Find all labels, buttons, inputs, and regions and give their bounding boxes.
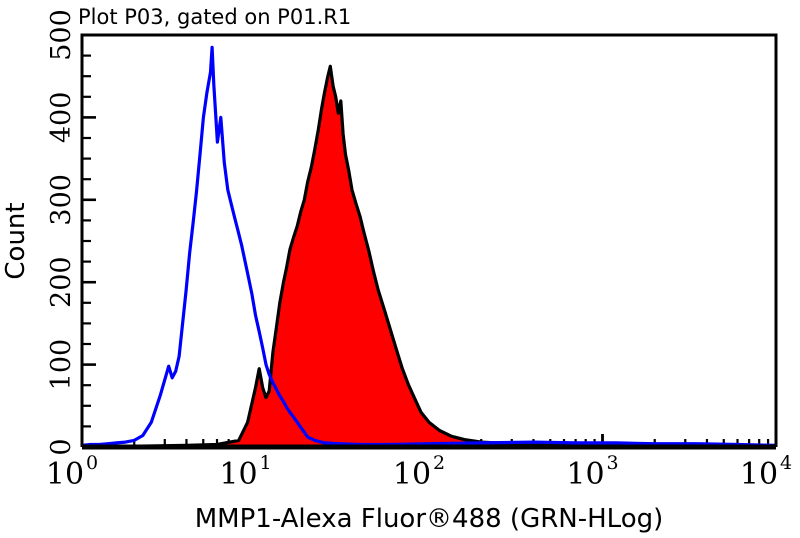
x-tick-exponent: 0	[86, 452, 98, 474]
x-axis-label: MMP1-Alexa Fluor®488 (GRN-HLog)	[195, 504, 664, 534]
x-tick-exponent: 2	[433, 452, 445, 474]
x-tick-label: 10	[219, 457, 257, 492]
plot-frame	[82, 35, 776, 447]
x-tick-label: 10	[393, 457, 431, 492]
y-tick-label: 400	[46, 92, 77, 144]
flow-cytometry-histogram: Plot P03, gated on P01.R1010020030040050…	[0, 0, 800, 538]
y-tick-label: 100	[46, 339, 77, 391]
x-tick-label: 10	[566, 457, 604, 492]
x-tick-label: 10	[46, 457, 84, 492]
y-tick-label: 300	[46, 174, 77, 226]
histogram-outline-control	[82, 47, 776, 445]
x-tick-exponent: 4	[780, 452, 792, 474]
plot-canvas: Plot P03, gated on P01.R1010020030040050…	[0, 0, 800, 538]
y-tick-label: 500	[46, 9, 77, 61]
histogram-outline-sample	[82, 66, 776, 446]
histogram-fill-ff0000	[82, 66, 776, 447]
y-tick-label: 0	[46, 438, 77, 455]
page-title: Plot P03, gated on P01.R1	[78, 5, 351, 29]
x-tick-exponent: 1	[260, 452, 272, 474]
x-tick-exponent: 3	[607, 452, 619, 474]
x-tick-label: 10	[740, 457, 778, 492]
y-axis-label: Count	[1, 202, 31, 279]
y-tick-label: 200	[46, 256, 77, 308]
